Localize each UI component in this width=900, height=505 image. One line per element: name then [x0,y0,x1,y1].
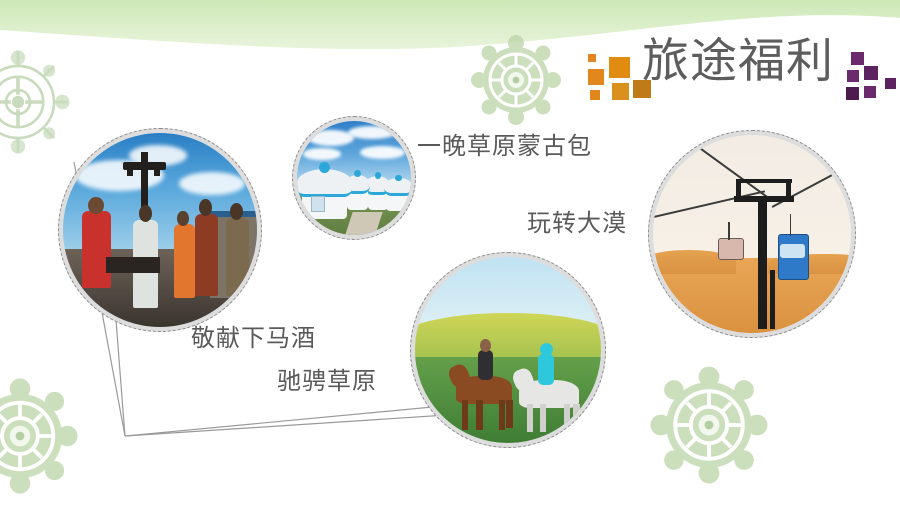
accent-square-purple-2 [847,70,859,82]
photo-ceremony[interactable] [58,128,262,332]
mandala-top-center-icon [466,30,566,130]
caption-wine: 敬献下马酒 [191,318,316,353]
accent-square-orange-2 [588,69,604,85]
accent-square-orange-3 [590,90,600,100]
caption-yurt: 一晚草原蒙古包 [417,126,592,161]
photo-yurt-image [297,121,411,235]
mandala-shape [466,30,566,130]
accent-square-purple-5 [864,86,876,98]
accent-square-purple-3 [864,66,878,80]
photo-desert-cablecar[interactable] [648,130,856,338]
accent-square-purple-6 [885,78,896,89]
slide-canvas: 旅途福利 一晚草原蒙古包 玩转大漠 敬献下马酒 驰骋草原 [0,0,900,505]
caption-desert: 玩转大漠 [527,203,627,238]
accent-square-orange-5 [612,83,629,100]
mandala-bottom-left-icon [0,372,84,500]
title-block: 旅途福利 [588,36,898,108]
photo-ceremony-image [63,133,257,327]
accent-square-orange-4 [609,57,630,78]
accent-square-orange-1 [588,54,596,62]
accent-square-purple-4 [846,87,859,100]
caption-grassland: 驰骋草原 [277,361,377,396]
photo-horseback[interactable] [410,252,606,448]
photo-horseback-image [415,257,601,443]
photo-desert-image [653,135,851,333]
mandala-shape [0,372,84,500]
mandala-bottom-right-icon [644,360,774,490]
page-title: 旅途福利 [642,32,834,92]
photo-yurt[interactable] [292,116,416,240]
accent-square-purple-1 [851,52,864,65]
mandala-shape [644,360,774,490]
